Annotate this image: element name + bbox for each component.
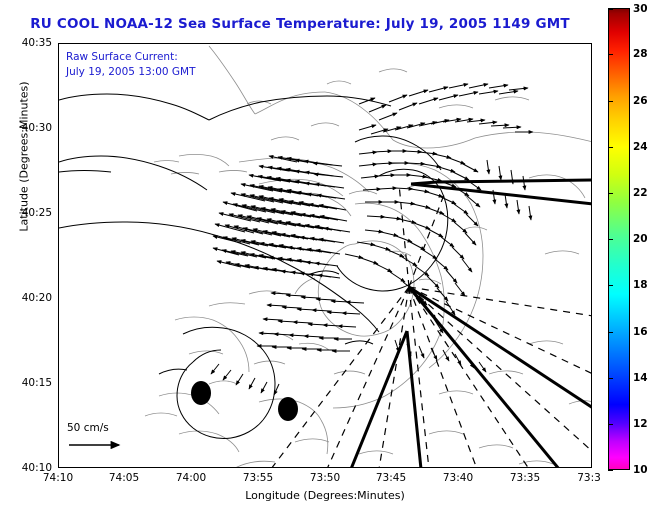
radar-site-marker[interactable] bbox=[278, 397, 298, 421]
cbtick-4: 18 bbox=[633, 279, 648, 291]
page-title: RU COOL NOAA-12 Sea Surface Temperature:… bbox=[0, 16, 600, 32]
xtick-2: 74:00 bbox=[176, 472, 206, 484]
xtick-8: 73:3 bbox=[577, 472, 601, 484]
xtick-3: 73:55 bbox=[243, 472, 273, 484]
ytick-4: 40:30 bbox=[10, 122, 52, 134]
sst-contour-layer bbox=[145, 46, 592, 468]
plot-annotation: Raw Surface Current: July 19, 2005 13:00… bbox=[66, 50, 196, 80]
radar-site-marker-layer bbox=[191, 381, 298, 421]
cbtick-1: 12 bbox=[633, 418, 648, 430]
map-plot-area[interactable]: Raw Surface Current: July 19, 2005 13:00… bbox=[58, 43, 592, 468]
right-arrow-icon bbox=[67, 437, 137, 453]
figure-root: RU COOL NOAA-12 Sea Surface Temperature:… bbox=[0, 0, 651, 518]
xtick-7: 73:35 bbox=[510, 472, 540, 484]
surface-current-vector-layer bbox=[211, 84, 533, 395]
cbtick-6: 22 bbox=[633, 187, 648, 199]
y-axis-label: Latitude (Degrees:Minutes) bbox=[18, 47, 31, 267]
xtick-6: 73:40 bbox=[443, 472, 473, 484]
ytick-0: 40:10 bbox=[10, 462, 52, 474]
xtick-5: 73:45 bbox=[376, 472, 406, 484]
vector-scale-label: 50 cm/s bbox=[67, 422, 177, 434]
ytick-2: 40:20 bbox=[10, 292, 52, 304]
cbtick-9: 28 bbox=[633, 48, 648, 60]
cbtick-7: 24 bbox=[633, 141, 648, 153]
annotation-line-1: Raw Surface Current: bbox=[66, 50, 196, 65]
map-canvas bbox=[59, 44, 592, 468]
cbtick-0: 10 bbox=[633, 464, 648, 476]
cbtick-8: 26 bbox=[633, 95, 648, 107]
cbtick-10: 30 bbox=[633, 3, 648, 15]
ytick-3: 40:25 bbox=[10, 207, 52, 219]
cbtick-2: 14 bbox=[633, 372, 648, 384]
cbtick-5: 20 bbox=[633, 233, 648, 245]
annotation-line-2: July 19, 2005 13:00 GMT bbox=[66, 65, 196, 80]
radar-coverage-sector-layer bbox=[351, 180, 592, 468]
vector-scale-legend: 50 cm/s bbox=[67, 422, 177, 462]
ytick-5: 40:35 bbox=[10, 37, 52, 49]
coastline-layer bbox=[59, 94, 448, 439]
ytick-1: 40:15 bbox=[10, 377, 52, 389]
radar-site-marker[interactable] bbox=[191, 381, 211, 405]
xtick-1: 74:05 bbox=[109, 472, 139, 484]
cbtick-3: 16 bbox=[633, 326, 648, 338]
xtick-4: 73:50 bbox=[310, 472, 340, 484]
x-axis-label: Longitude (Degrees:Minutes) bbox=[58, 489, 592, 502]
